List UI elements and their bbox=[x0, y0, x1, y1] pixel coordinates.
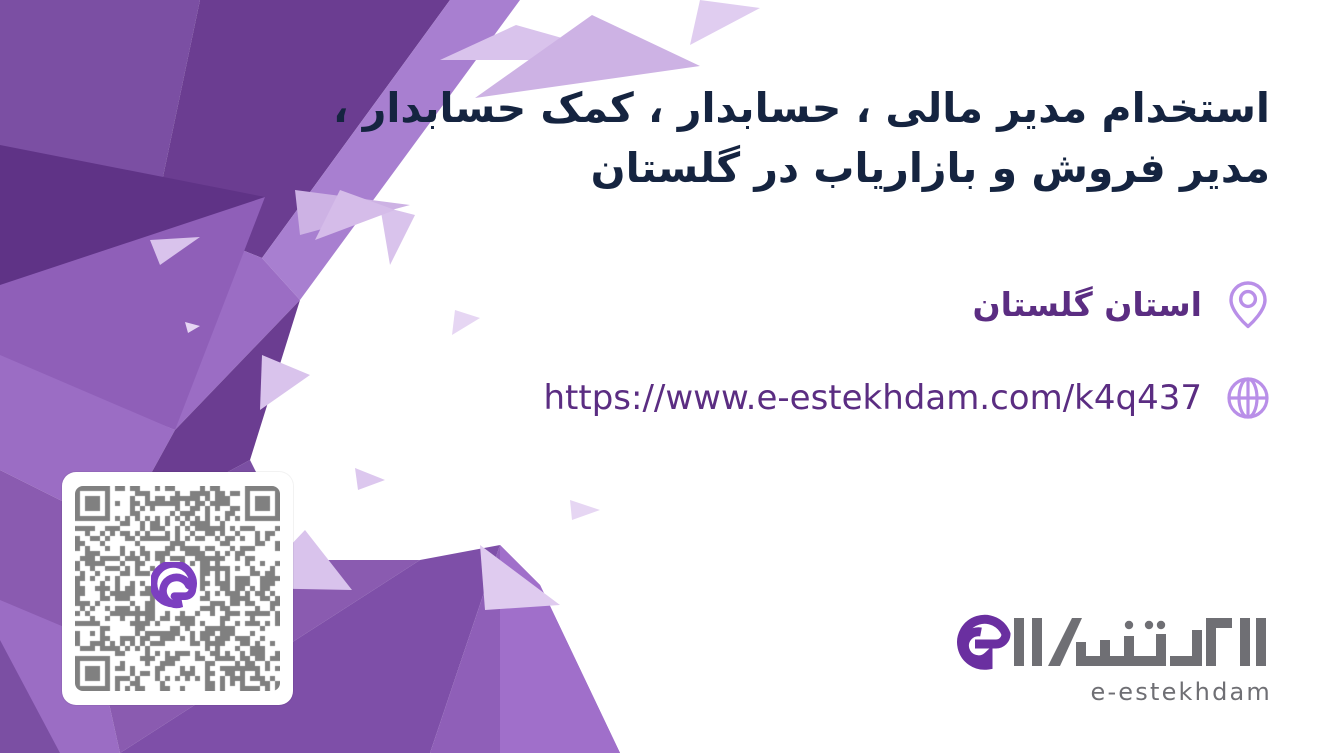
brand-wordmark bbox=[948, 612, 1272, 674]
globe-icon bbox=[1222, 372, 1274, 424]
location-row: استان گلستان bbox=[972, 278, 1274, 330]
brand-subtitle: e-estekhdam bbox=[948, 678, 1272, 706]
location-text: استان گلستان bbox=[972, 285, 1202, 324]
brand-logo: e-estekhdam bbox=[948, 612, 1272, 710]
website-row[interactable]: https://www.e-estekhdam.com/k4q437 bbox=[543, 372, 1274, 424]
qr-code[interactable] bbox=[62, 472, 293, 705]
website-url[interactable]: https://www.e-estekhdam.com/k4q437 bbox=[543, 378, 1202, 418]
job-ad-card: استخدام مدیر مالی ، حسابدار ، کمک حسابدا… bbox=[0, 0, 1340, 753]
job-title: استخدام مدیر مالی ، حسابدار ، کمک حسابدا… bbox=[310, 79, 1270, 198]
qr-center-e-mark bbox=[151, 562, 205, 616]
location-pin-icon bbox=[1222, 278, 1274, 330]
